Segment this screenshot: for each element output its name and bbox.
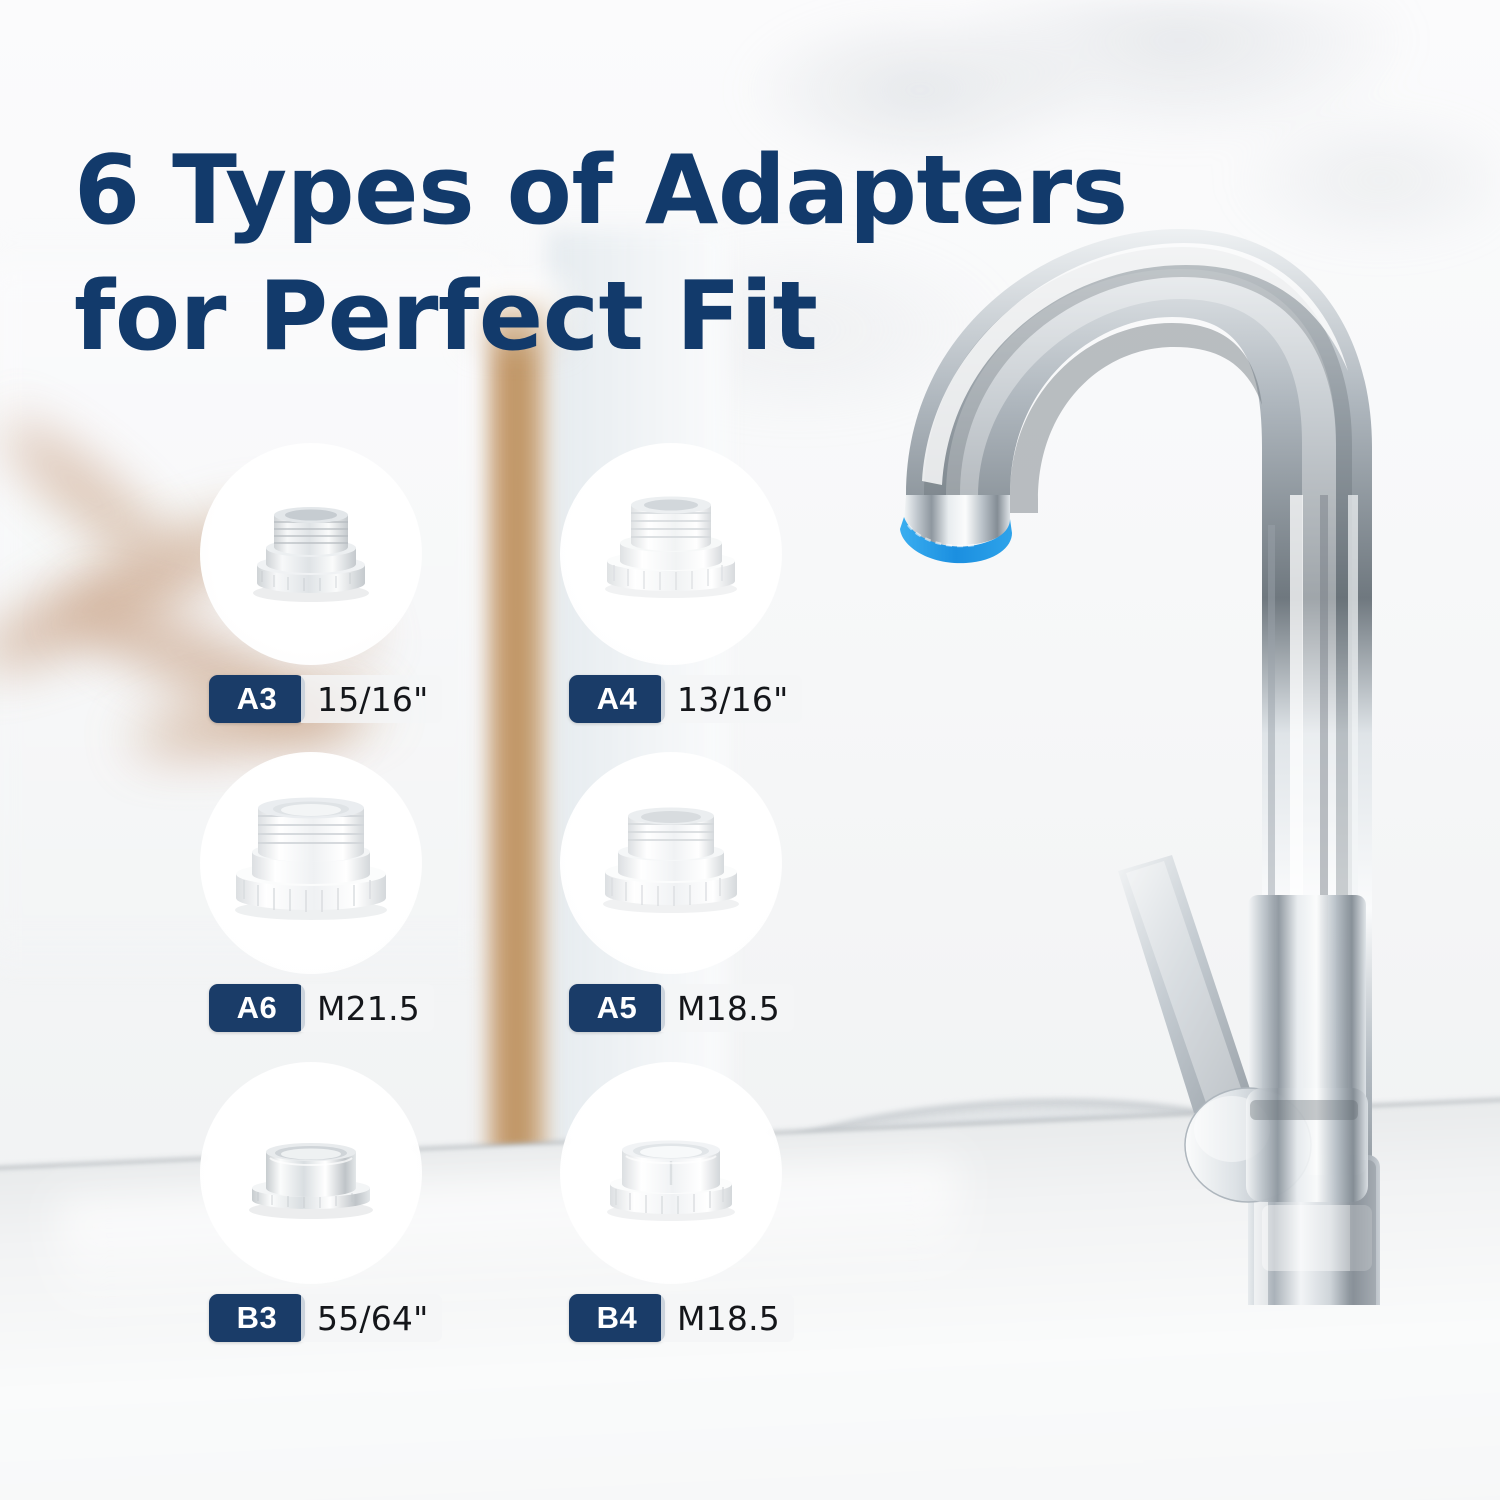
- adapter-photo-disc: [200, 443, 422, 665]
- adapter-wide-threaded-plastic-icon: [200, 752, 422, 974]
- adapter-item[interactable]: B4 M18.5: [560, 1062, 920, 1372]
- product-infographic: A3 15/16": [0, 0, 1500, 1500]
- adapter-tag: A6 M21.5: [209, 984, 434, 1032]
- adapter-item[interactable]: A5 M18.5: [560, 752, 920, 1062]
- adapter-item[interactable]: A3 15/16": [200, 443, 560, 753]
- adapter-tag: A4 13/16": [569, 675, 802, 723]
- adapter-flanged-plastic-icon: [560, 1062, 782, 1284]
- adapter-size: 55/64": [301, 1294, 442, 1342]
- adapter-size: M18.5: [661, 984, 794, 1032]
- adapter-item[interactable]: A6 M21.5: [200, 752, 560, 1062]
- headline-line-2: for Perfect Fit: [74, 254, 1174, 380]
- adapter-code: A6: [209, 984, 305, 1032]
- page-title: 6 Types of Adapters for Perfect Fit: [74, 128, 1174, 381]
- adapter-photo-disc: [560, 1062, 782, 1284]
- adapter-size: 15/16": [301, 675, 442, 723]
- adapter-photo-disc: [200, 752, 422, 974]
- adapter-code: B3: [209, 1294, 305, 1342]
- adapter-tag: B4 M18.5: [569, 1294, 794, 1342]
- adapter-item[interactable]: B3 55/64": [200, 1062, 560, 1372]
- adapter-code: A4: [569, 675, 665, 723]
- adapter-threaded-plastic-icon: [560, 752, 782, 974]
- headline-line-1: 6 Types of Adapters: [74, 136, 1128, 246]
- adapter-threaded-plastic-icon: [560, 443, 782, 665]
- adapter-code: A5: [569, 984, 665, 1032]
- adapter-photo-disc: [200, 1062, 422, 1284]
- adapter-tag: B3 55/64": [209, 1294, 442, 1342]
- adapter-size: M18.5: [661, 1294, 794, 1342]
- adapter-tag: A3 15/16": [209, 675, 442, 723]
- adapter-size: 13/16": [661, 675, 802, 723]
- adapter-threaded-metal-icon: [200, 443, 422, 665]
- adapter-photo-disc: [560, 443, 782, 665]
- adapter-size: M21.5: [301, 984, 434, 1032]
- adapter-photo-disc: [560, 752, 782, 974]
- adapter-code: A3: [209, 675, 305, 723]
- adapter-tag: A5 M18.5: [569, 984, 794, 1032]
- adapter-flanged-metal-icon: [200, 1062, 422, 1284]
- adapter-code: B4: [569, 1294, 665, 1342]
- adapter-item[interactable]: A4 13/16": [560, 443, 920, 753]
